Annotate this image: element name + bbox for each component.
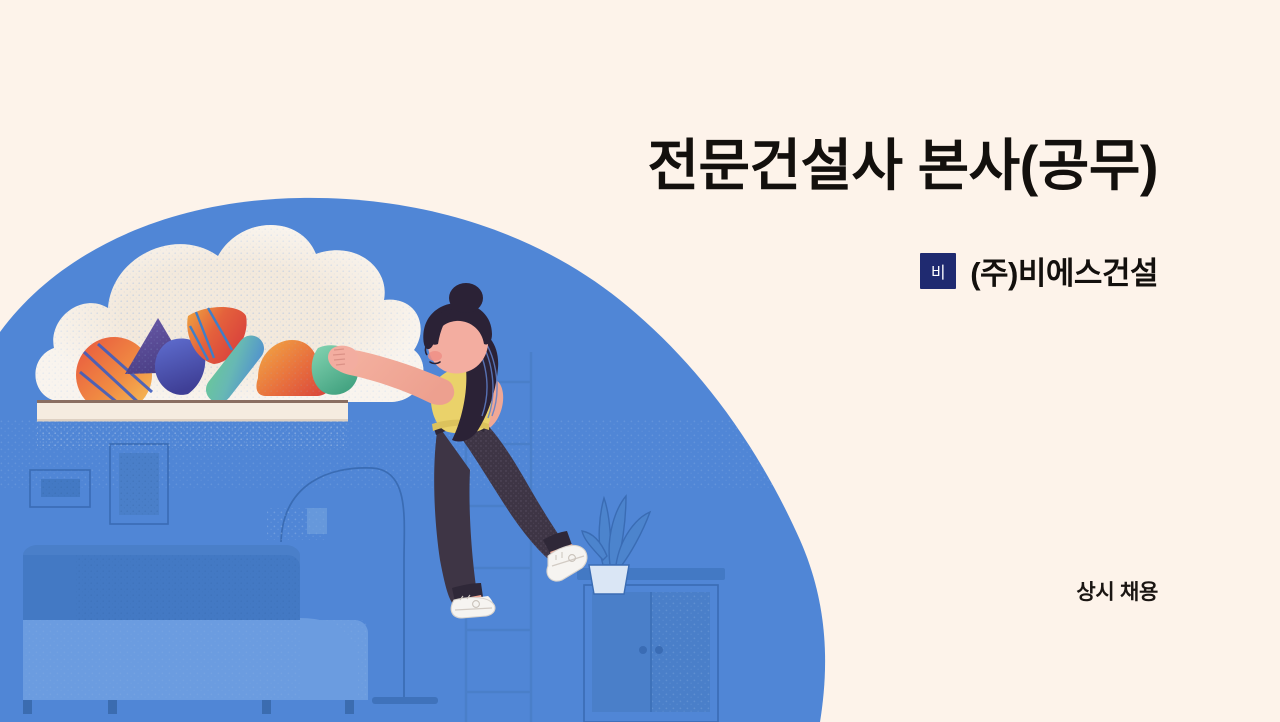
shelf-shadow bbox=[37, 420, 348, 448]
lamp-base bbox=[372, 697, 438, 704]
job-title: 전문건설사 본사(공무) bbox=[647, 132, 1158, 200]
company-name[interactable]: (주)비에스건설 bbox=[970, 248, 1158, 293]
lamp-glow bbox=[267, 508, 327, 540]
cabinet-knob-left bbox=[639, 646, 647, 654]
cabinet-knob-right bbox=[655, 646, 663, 654]
company-row[interactable]: 비 (주)비에스건설 bbox=[920, 248, 1158, 293]
hiring-status-badge: 상시 채용 bbox=[1076, 576, 1158, 606]
plant-pot bbox=[589, 565, 629, 594]
hero-illustration bbox=[0, 0, 1280, 722]
company-logo-badge: 비 bbox=[920, 253, 956, 289]
shelf-board bbox=[37, 400, 348, 422]
job-posting-banner: 전문건설사 본사(공무) 비 (주)비에스건설 상시 채용 bbox=[0, 0, 1280, 722]
cheek-blush bbox=[428, 351, 442, 361]
